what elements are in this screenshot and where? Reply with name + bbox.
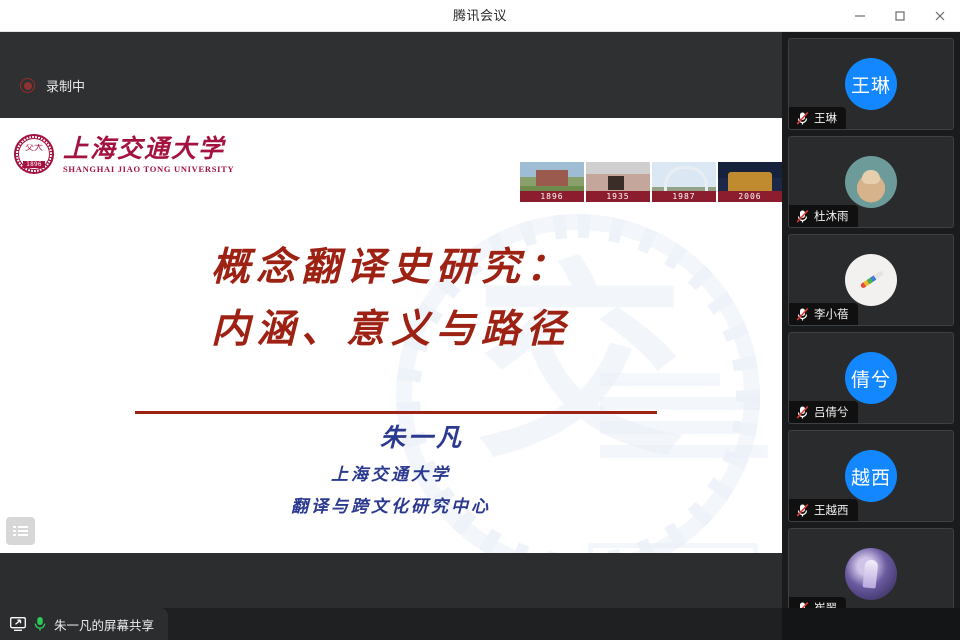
mic-muted-icon	[796, 503, 809, 518]
participant-tile[interactable]: 倩兮 吕倩兮	[788, 332, 954, 424]
minimize-button[interactable]	[840, 0, 880, 31]
avatar	[845, 254, 897, 306]
participant-label: 王琳	[789, 107, 846, 129]
author-affiliation-university: 上海交通大学	[0, 458, 782, 492]
avatar	[845, 156, 897, 208]
list-icon	[13, 525, 28, 537]
participant-name: 王琳	[814, 110, 837, 126]
participant-rail[interactable]: 王琳 王琳 杜沐雨	[782, 32, 960, 640]
sjtu-logo: 交大 1896 上海交通大学 SHANGHAI JIAO TONG UNIVER…	[14, 134, 234, 174]
campus-photo: 1935	[586, 162, 650, 202]
slide-title-line-1: 概念翻译史研究：	[0, 236, 782, 298]
participant-name: 吕倩兮	[814, 404, 849, 420]
mic-muted-icon	[796, 209, 809, 224]
participant-name: 杜沐雨	[814, 208, 849, 224]
presentation-slide: 交 1896 交大 1896 上海交通大学 SHANGHAI JIAO TONG…	[0, 118, 782, 553]
participant-name: 李小蓓	[814, 306, 849, 322]
screen-share-label: 朱一凡的屏幕共享	[54, 615, 154, 634]
campus-photo: 2006	[718, 162, 782, 202]
maximize-button[interactable]	[880, 0, 920, 31]
seal-year: 1896	[23, 161, 45, 168]
campus-photo-strip: 1896 1935 1987 2006	[520, 162, 782, 202]
title-divider	[135, 411, 657, 414]
participant-label: 吕倩兮	[789, 401, 858, 423]
outline-list-button[interactable]	[6, 517, 35, 545]
participant-tile[interactable]: 王琳 王琳	[788, 38, 954, 130]
logo-chinese-name: 上海交通大学	[63, 135, 234, 163]
tencent-meeting-window: 腾讯会议 录制中 交 1896	[0, 0, 960, 640]
participant-name: 王越西	[814, 502, 849, 518]
close-button[interactable]	[920, 0, 960, 31]
window-title: 腾讯会议	[0, 0, 960, 31]
participant-label: 杜沐雨	[789, 205, 858, 227]
participant-tile[interactable]: 李小蓓	[788, 234, 954, 326]
record-dot-icon	[20, 78, 35, 93]
slide-author-block: 朱一凡 上海交通大学 翻译与跨文化研究中心	[0, 418, 782, 522]
campus-photo: 1896	[520, 162, 584, 202]
mic-muted-icon	[796, 111, 809, 126]
mic-muted-icon	[796, 307, 809, 322]
campus-photo-year: 1935	[586, 191, 650, 202]
sjtu-seal-icon: 交大 1896	[14, 134, 54, 174]
participant-label: 李小蓓	[789, 303, 858, 325]
mic-muted-icon	[796, 405, 809, 420]
mic-on-icon	[34, 616, 46, 632]
screen-share-icon	[10, 617, 26, 631]
campus-photo-year: 1987	[652, 191, 716, 202]
author-name: 朱一凡	[0, 418, 782, 458]
watermark-year: 1896	[588, 543, 758, 553]
author-affiliation-center: 翻译与跨文化研究中心	[0, 492, 782, 522]
bottom-share-bar: 朱一凡的屏幕共享	[0, 608, 782, 640]
campus-photo: 1987	[652, 162, 716, 202]
shared-screen-stage[interactable]: 录制中 交 1896 交大 1896 上海交通大学 SH	[0, 32, 782, 608]
participant-tile[interactable]: 杜沐雨	[788, 136, 954, 228]
participant-tile[interactable]: 崔翠	[788, 528, 954, 620]
logo-english-name: SHANGHAI JIAO TONG UNIVERSITY	[63, 164, 234, 174]
participant-tile[interactable]: 越西 王越西	[788, 430, 954, 522]
slide-title: 概念翻译史研究： 内涵、意义与路径	[0, 236, 782, 360]
recording-label: 录制中	[46, 76, 85, 95]
recording-indicator: 录制中	[20, 76, 85, 95]
rail-footer	[782, 608, 960, 640]
avatar: 倩兮	[845, 352, 897, 404]
screen-share-status[interactable]: 朱一凡的屏幕共享	[0, 608, 168, 640]
participant-label: 王越西	[789, 499, 858, 521]
campus-photo-year: 2006	[718, 191, 782, 202]
recording-bar: 录制中	[0, 32, 782, 118]
title-bar: 腾讯会议	[0, 0, 960, 32]
avatar: 越西	[845, 450, 897, 502]
avatar	[845, 548, 897, 600]
slide-title-line-2: 内涵、意义与路径	[0, 298, 782, 360]
avatar: 王琳	[845, 58, 897, 110]
window-controls	[840, 0, 960, 31]
campus-photo-year: 1896	[520, 191, 584, 202]
